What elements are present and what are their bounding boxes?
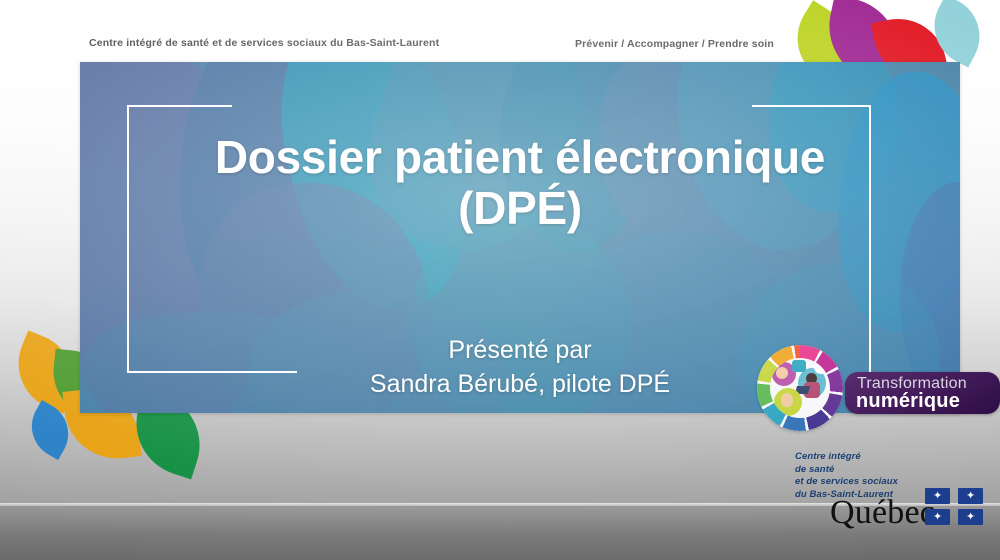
numerique-label: numérique	[856, 390, 960, 413]
quebec-wordmark-text: Québec	[830, 494, 935, 532]
frame-top-right-horizontal	[752, 105, 871, 107]
signature-line-2: de santé	[795, 464, 898, 477]
fleur-de-lis-icon: ✦	[933, 509, 942, 525]
quebec-flag-block-2: ✦	[958, 488, 983, 504]
slide-title-line-1: Dossier patient électronique	[80, 134, 960, 182]
slide-title-line-2: (DPÉ)	[80, 182, 960, 234]
transformation-numerique-circle-icon	[757, 345, 843, 431]
signature-line-3: et de services sociaux	[795, 476, 898, 489]
screenshot-root: Centre intégré de santé et de services s…	[0, 0, 1000, 560]
header-tagline: Prévenir / Accompagner / Prendre soin	[575, 38, 774, 50]
frame-top-left-horizontal	[127, 105, 232, 107]
slide-title: Dossier patient électronique (DPÉ)	[80, 134, 960, 234]
tn-inner-illustration	[770, 358, 830, 418]
fleur-de-lis-icon: ✦	[933, 488, 942, 504]
quebec-flag-block-4: ✦	[958, 509, 983, 525]
header-organization: Centre intégré de santé et de services s…	[89, 37, 439, 49]
transformation-numerique-badge: Transformation numérique	[845, 372, 1000, 414]
quebec-flag-block-1: ✦	[925, 488, 950, 504]
signature-line-1: Centre intégré	[795, 451, 898, 464]
fleur-de-lis-icon: ✦	[966, 488, 975, 504]
fleur-de-lis-icon: ✦	[966, 509, 975, 525]
quebec-flag-block-3: ✦	[925, 509, 950, 525]
